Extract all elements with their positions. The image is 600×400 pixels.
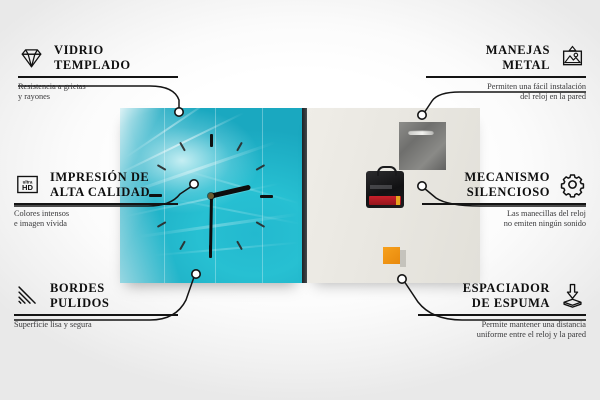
feature-title: MECANISMO SILENCIOSO <box>464 170 550 199</box>
clock-minute-hand <box>208 195 212 253</box>
feature-rule <box>14 203 178 205</box>
feature-rule <box>418 314 586 316</box>
feature-title: MANEJAS METAL <box>486 43 550 72</box>
feature-rule <box>426 76 586 78</box>
metal-hanger-plate <box>399 122 446 170</box>
diamond-icon <box>18 44 45 71</box>
mechanism-loop <box>377 166 397 176</box>
feature-rule <box>18 76 178 78</box>
feature-title: BORDES PULIDOS <box>50 281 109 310</box>
svg-text:HD: HD <box>22 183 33 192</box>
clock-center-cap <box>208 193 214 199</box>
foam-spacer-shadow <box>400 250 406 267</box>
polished-edges-icon <box>14 282 41 309</box>
feature-bordes-pulidos: BORDES PULIDOS Superficie lisa y segura <box>14 281 178 330</box>
feature-desc: Permite mantener una distancia uniforme … <box>418 320 586 341</box>
feature-manejas-metal: MANEJAS METAL Permiten una fácil instala… <box>426 43 586 103</box>
battery-tip <box>396 196 400 205</box>
feature-impresion-alta-calidad: ultra HD IMPRESIÓN DE ALTA CALIDAD Color… <box>14 170 178 230</box>
feature-desc: Las manecillas del reloj no emiten ningú… <box>422 209 586 230</box>
infographic-canvas: VIDRIO TEMPLADO Resistencia a grietas y … <box>0 0 600 400</box>
feature-title: IMPRESIÓN DE ALTA CALIDAD <box>50 170 150 199</box>
foam-spacer-icon <box>559 282 586 309</box>
feature-desc: Permiten una fácil instalación del reloj… <box>426 82 586 103</box>
gear-icon <box>559 171 586 198</box>
feature-vidrio-templado: VIDRIO TEMPLADO Resistencia a grietas y … <box>18 43 178 103</box>
foam-spacer <box>383 247 400 264</box>
feature-rule <box>422 203 586 205</box>
wall-frame-icon <box>559 44 586 71</box>
feature-title: ESPACIADOR DE ESPUMA <box>463 281 550 310</box>
feature-mecanismo-silencioso: MECANISMO SILENCIOSO Las manecillas del … <box>422 170 586 230</box>
feature-desc: Resistencia a grietas y rayones <box>18 82 178 103</box>
hanger-slot <box>408 130 434 135</box>
ultra-hd-icon: ultra HD <box>14 171 41 198</box>
feature-espaciador-espuma: ESPACIADOR DE ESPUMA Permite mantener un… <box>418 281 586 341</box>
clock-tick <box>210 134 212 196</box>
feature-desc: Colores intensos e imagen vívida <box>14 209 178 230</box>
mechanism-label <box>370 185 392 189</box>
feature-title: VIDRIO TEMPLADO <box>54 43 131 72</box>
feature-rule <box>14 314 178 316</box>
clock-mechanism <box>366 171 404 208</box>
feature-desc: Superficie lisa y segura <box>14 320 178 331</box>
